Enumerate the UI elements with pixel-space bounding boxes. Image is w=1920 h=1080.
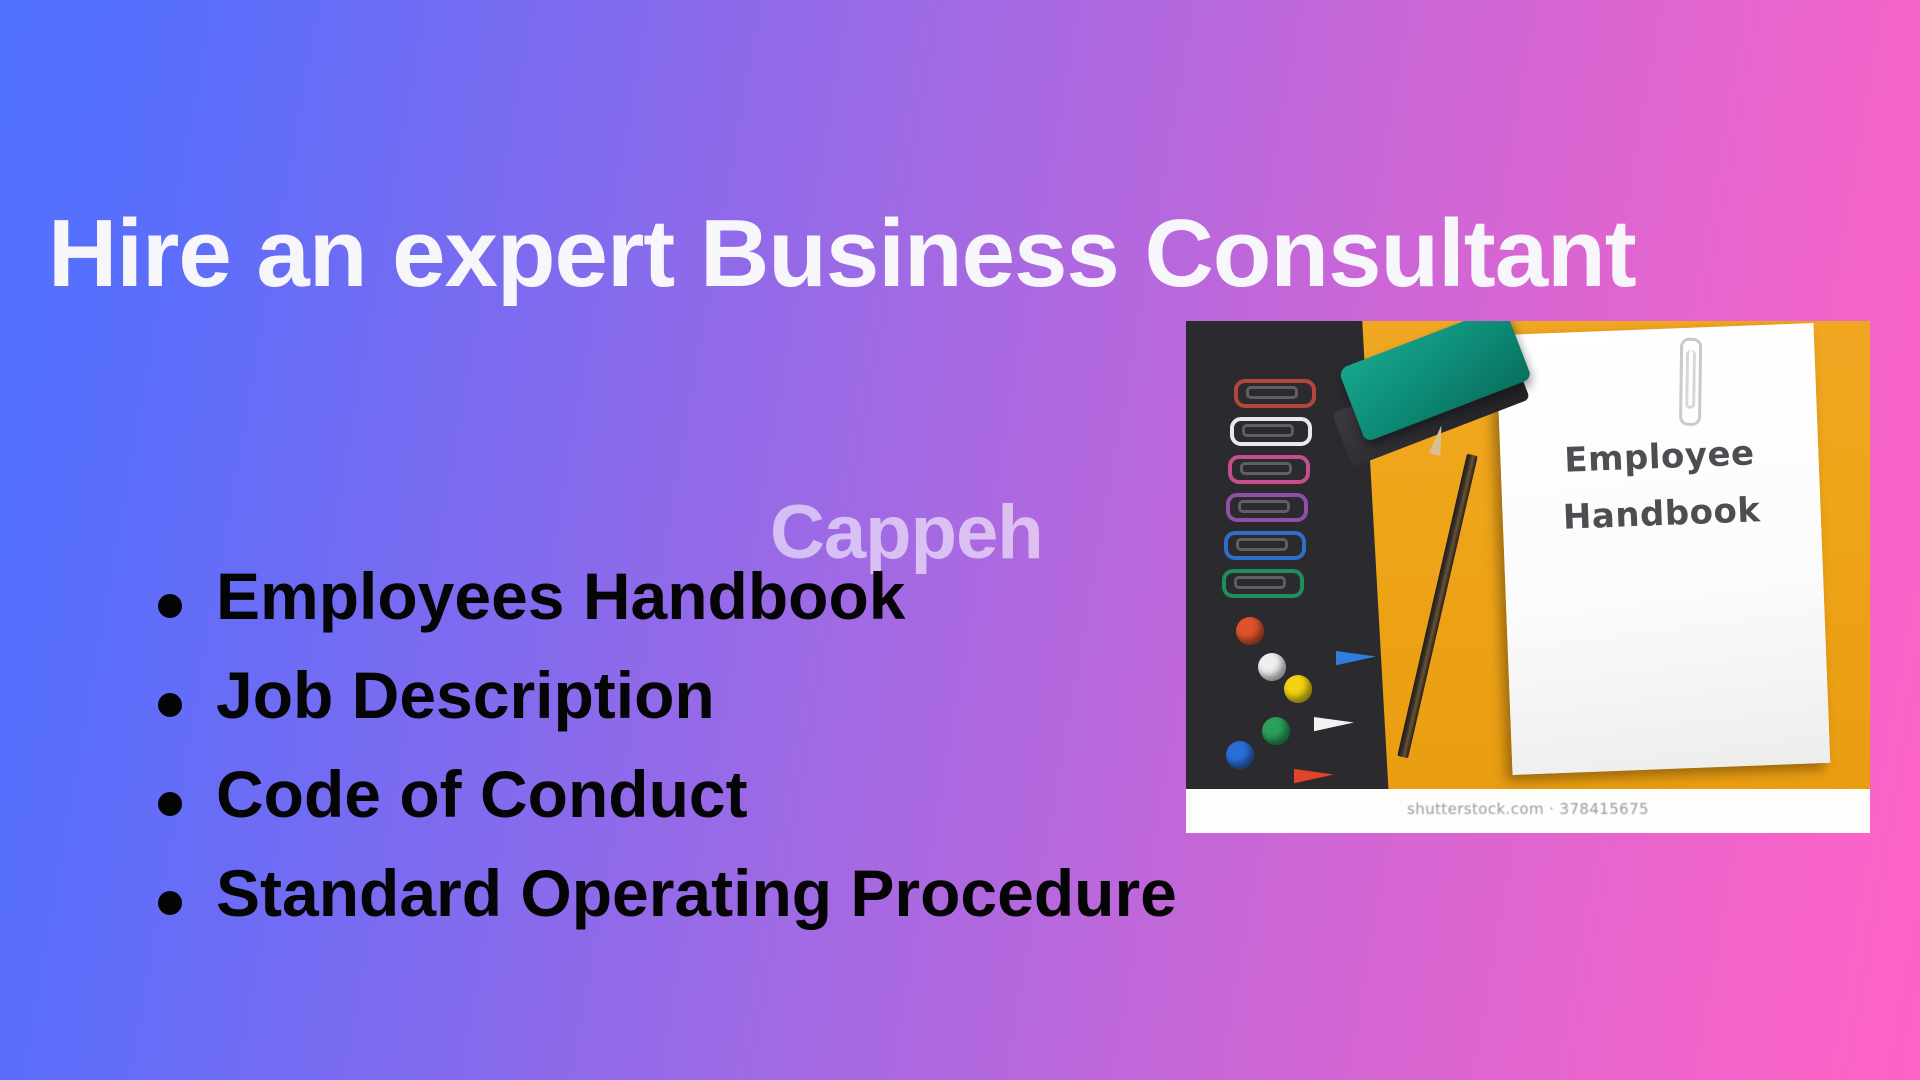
list-item-label: Code of Conduct — [216, 757, 748, 831]
paper-heading-line-2: Handbook — [1502, 488, 1821, 540]
pushpin-blue — [1226, 741, 1254, 769]
handbook-paper: Employee Handbook — [1496, 323, 1831, 775]
paper-heading-line-1: Employee — [1500, 431, 1819, 483]
flag-pin-red — [1294, 769, 1334, 789]
paperclip-3 — [1228, 455, 1310, 484]
paperclip-1 — [1234, 379, 1316, 408]
feature-list: Employees Handbook Job Description Code … — [148, 560, 1177, 956]
flag-pin-needle — [1338, 677, 1340, 753]
flag-pin-needle — [1316, 743, 1318, 789]
page-title: Hire an expert Business Consultant — [48, 204, 1848, 305]
pushpin-orange — [1236, 617, 1264, 645]
pushpin-white — [1258, 653, 1286, 681]
photo-scene: Employee Handbook — [1186, 321, 1870, 789]
list-item: Employees Handbook — [148, 560, 1177, 634]
pushpin-yellow — [1284, 675, 1312, 703]
photo-credit-text: shutterstock.com · 378415675 — [1186, 800, 1870, 818]
pushpin-green — [1262, 717, 1290, 745]
paperclip-4 — [1226, 493, 1308, 522]
list-item-label: Standard Operating Procedure — [216, 856, 1177, 930]
list-item: Standard Operating Procedure — [148, 857, 1177, 931]
list-item: Job Description — [148, 659, 1177, 733]
list-item: Code of Conduct — [148, 758, 1177, 832]
list-item-label: Job Description — [216, 658, 715, 732]
paperclip-2 — [1230, 417, 1312, 446]
paperclip-5 — [1224, 531, 1306, 560]
paperclip-6 — [1222, 569, 1304, 598]
photo-credit-strip: shutterstock.com · 378415675 — [1186, 789, 1870, 833]
flag-pin-blue — [1336, 651, 1376, 685]
employee-handbook-photo: Employee Handbook — [1186, 321, 1870, 833]
slide-canvas: Hire an expert Business Consultant Cappe… — [0, 0, 1920, 1080]
paperclip-icon — [1679, 338, 1702, 426]
flag-pin-white — [1314, 717, 1354, 751]
list-item-label: Employees Handbook — [216, 559, 906, 633]
